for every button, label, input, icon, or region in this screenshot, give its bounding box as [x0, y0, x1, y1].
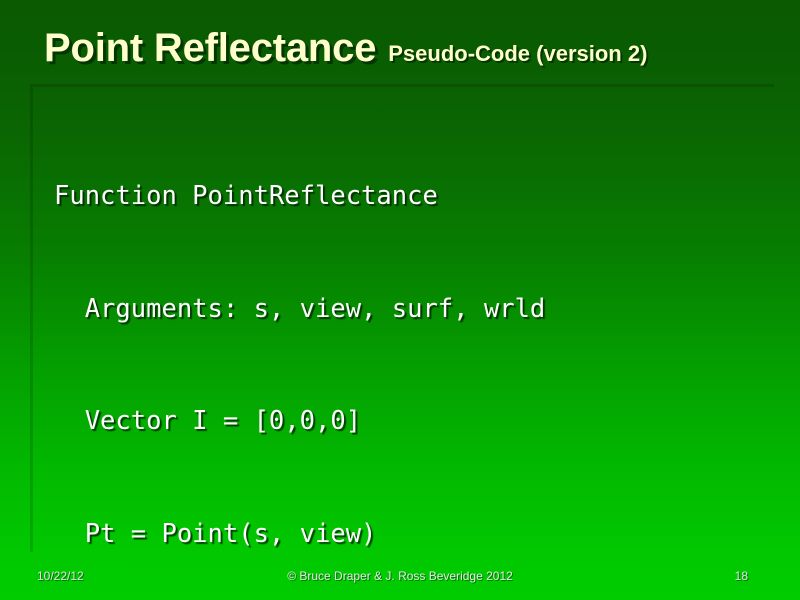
- footer-copyright: © Bruce Draper & J. Ross Beveridge 2012: [0, 569, 800, 583]
- code-line: Function PointReflectance: [54, 178, 668, 216]
- presentation-slide: Point ReflectancePseudo-Code (version 2)…: [0, 0, 800, 600]
- slide-title-main: Point Reflectance: [44, 26, 376, 70]
- code-line: Pt = Point(s, view): [54, 516, 668, 554]
- pseudocode-block: Function PointReflectance Arguments: s, …: [54, 103, 668, 600]
- slide-title-subtitle: Pseudo-Code (version 2): [388, 41, 647, 66]
- code-line: Arguments: s, view, surf, wrld: [54, 291, 668, 329]
- footer-page-number: 18: [735, 569, 748, 583]
- code-line: Vector I = [0,0,0]: [54, 403, 668, 441]
- slide-title: Point ReflectancePseudo-Code (version 2): [44, 26, 647, 71]
